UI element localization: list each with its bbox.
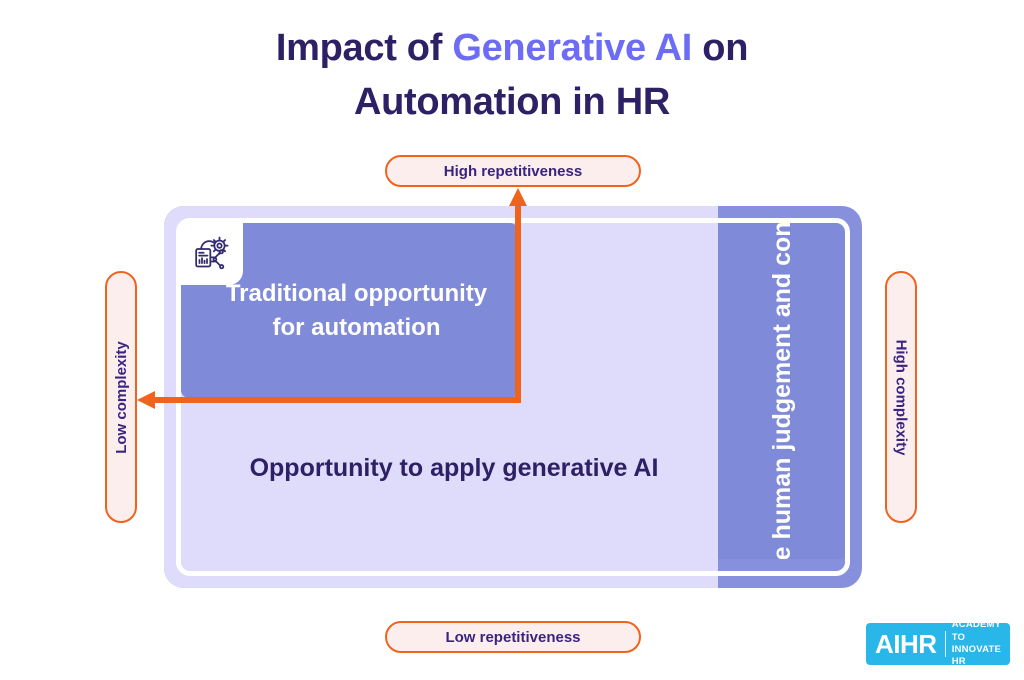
aihr-logo: AIHR ACADEMY TO INNOVATE HR (866, 623, 1010, 665)
title-part-before: Impact of (276, 27, 452, 69)
title-accent: Generative AI (452, 27, 692, 69)
title-line2: Automation in HR (354, 81, 670, 123)
axis-label-high-repetitiveness-text: High repetitiveness (444, 163, 582, 180)
axis-label-low-repetitiveness-text: Low repetitiveness (445, 629, 580, 646)
axis-label-low-repetitiveness: Low repetitiveness (385, 621, 641, 653)
matrix-card: Opportunity to apply generative AI Tradi… (164, 206, 862, 588)
axis-label-low-complexity: Low complexity (105, 271, 137, 523)
axis-label-high-complexity: High complexity (885, 271, 917, 523)
axis-label-high-complexity-text: High complexity (893, 339, 910, 455)
quadrant-traditional-automation: Traditional opportunity for automation (181, 223, 518, 398)
quadrant-label-generative-ai: Opportunity to apply generative AI (194, 451, 714, 487)
aihr-logo-mark: AIHR (875, 631, 937, 657)
aihr-logo-tagline: ACADEMY TO INNOVATE HR (952, 619, 1001, 668)
automation-gear-document-icon (181, 223, 243, 285)
aihr-logo-tagline-line2: INNOVATE HR (952, 644, 1001, 667)
page-title: Impact of Generative AI on Automation in… (0, 22, 1024, 130)
quadrant-human-judgement: Activities where human judgement and con… (718, 223, 848, 559)
quadrant-human-judgement-text: Activities where human judgement and con… (766, 223, 800, 559)
axis-label-high-repetitiveness: High repetitiveness (385, 155, 641, 187)
aihr-logo-tagline-line1: ACADEMY TO (952, 619, 1001, 642)
axis-label-low-complexity-text: Low complexity (113, 341, 130, 454)
title-part-after: on (692, 27, 748, 69)
quadrant-traditional-automation-text: Traditional opportunity for automation (215, 277, 498, 344)
